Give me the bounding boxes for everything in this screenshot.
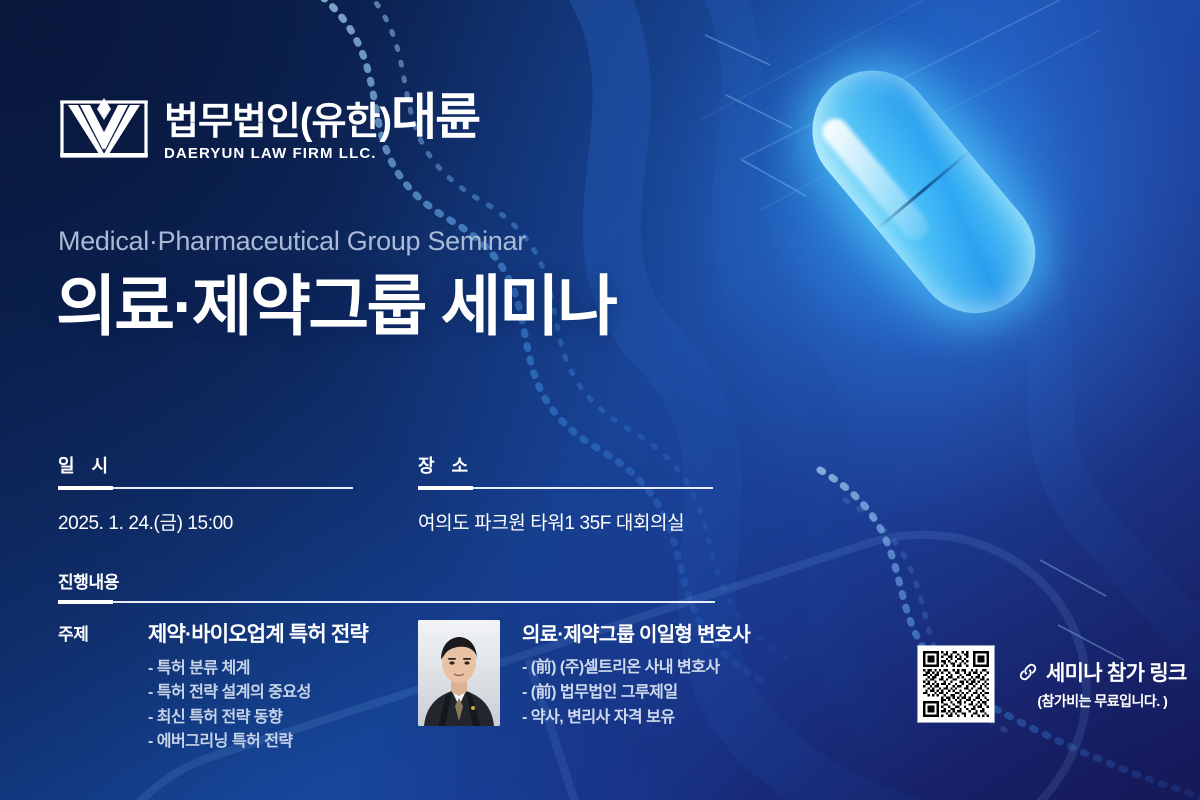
avatar xyxy=(418,620,500,726)
date-underline xyxy=(58,487,353,491)
link-text-group: 세미나 참가 링크 (참가비는 무료입니다. ) xyxy=(1018,657,1187,711)
registration-link-label: 세미나 참가 링크 xyxy=(1046,657,1187,687)
qr-code-icon[interactable] xyxy=(923,651,989,717)
list-item: - 특허 분류 체계 xyxy=(148,657,368,681)
topic-column: 주제 제약·바이오업계 특허 전략 - 특허 분류 체계 - 특허 전략 설계의… xyxy=(58,618,418,754)
speaker-photo xyxy=(418,620,500,726)
brand-name-korean: 법무법인(유한)대륜 xyxy=(164,92,479,142)
place-value: 여의도 파크원 타워1 35F 대회의실 xyxy=(418,508,713,535)
seminar-title: 의료·제약그룹 세미나 xyxy=(56,272,615,341)
list-item: - 최신 특허 전략 동향 xyxy=(148,706,368,730)
place-label: 장 소 xyxy=(418,452,713,478)
registration-fee-note: (참가비는 무료입니다. ) xyxy=(1018,691,1187,711)
place-block: 장 소 여의도 파크원 타워1 35F 대회의실 xyxy=(418,452,713,535)
speaker-name: 의료·제약그룹 이일형 변호사 xyxy=(522,618,750,647)
program-header: 진행내용 xyxy=(58,568,715,605)
registration-link-block[interactable]: 세미나 참가 링크 (참가비는 무료입니다. ) xyxy=(918,646,1187,722)
seminar-subtitle: Medical·Pharmaceutical Group Seminar xyxy=(58,226,526,257)
brand-logo: 법무법인(유한)대륜 DAERYUN LAW FIRM LLC. xyxy=(58,92,479,162)
place-underline xyxy=(418,487,713,491)
list-item: - 에버그리닝 특허 전략 xyxy=(148,730,368,754)
daeryun-w-mark-icon xyxy=(58,96,150,162)
speaker-column: 의료·제약그룹 이일형 변호사 - (前) (주)셀트리온 사내 변호사 - (… xyxy=(522,618,750,730)
topic-bullet-list: - 특허 분류 체계 - 특허 전략 설계의 중요성 - 최신 특허 전략 동향… xyxy=(148,657,368,754)
program-section-label: 진행내용 xyxy=(58,568,715,593)
registration-link-label-row[interactable]: 세미나 참가 링크 xyxy=(1018,657,1187,687)
speaker-credential-list: - (前) (주)셀트리온 사내 변호사 - (前) 법무법인 그루제일 - 약… xyxy=(522,656,750,730)
chain-link-icon xyxy=(1018,662,1038,682)
date-label: 일 시 xyxy=(58,452,353,478)
list-item: - (前) (주)셀트리온 사내 변호사 xyxy=(522,656,750,681)
list-item: - 특허 전략 설계의 중요성 xyxy=(148,681,368,705)
list-item: - (前) 법무법인 그루제일 xyxy=(522,681,750,706)
topic-label: 주제 xyxy=(58,618,148,645)
qr-code[interactable] xyxy=(918,646,994,722)
date-block: 일 시 2025. 1. 24.(금) 15:00 xyxy=(58,452,353,535)
date-value: 2025. 1. 24.(금) 15:00 xyxy=(58,508,353,535)
list-item: - 약사, 변리사 자격 보유 xyxy=(522,706,750,731)
seminar-poster: 법무법인(유한)대륜 DAERYUN LAW FIRM LLC. Medical… xyxy=(0,0,1200,800)
poster-content: 법무법인(유한)대륜 DAERYUN LAW FIRM LLC. Medical… xyxy=(0,0,1200,800)
brand-name-english: DAERYUN LAW FIRM LLC. xyxy=(164,145,479,162)
program-underline xyxy=(58,601,715,605)
topic-title: 제약·바이오업계 특허 전략 xyxy=(148,618,368,648)
